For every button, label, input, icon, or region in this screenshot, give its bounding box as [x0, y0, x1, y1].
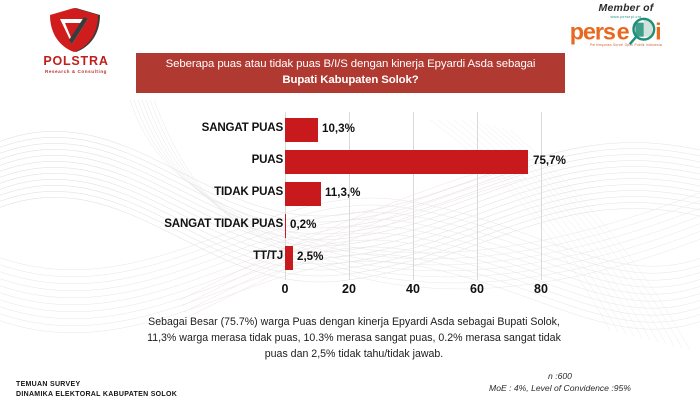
- summary-line-1: Sebagai Besar (75.7%) warga Puas dengan …: [104, 314, 604, 330]
- infographic-slide: POLSTRA Research & Consulting Member of …: [0, 0, 700, 400]
- sample-size: n :600: [430, 370, 690, 382]
- bar-row: PUAS 75,7%: [0, 146, 700, 178]
- bar-sangat-tidak-puas: [285, 214, 286, 238]
- bar-sangat-puas: [285, 118, 318, 142]
- bar-category-label: SANGAT TIDAK PUAS: [164, 217, 283, 230]
- persepi-member-label: Member of: [560, 2, 692, 14]
- bar-value-label: 11,3,%: [325, 186, 360, 199]
- bar-category-label: TT/TJ: [253, 249, 283, 262]
- bar-row: TT/TJ 2,5%: [0, 242, 700, 274]
- bar-value-label: 10,3%: [322, 122, 355, 135]
- svg-text:pers: pers: [570, 19, 616, 45]
- title-line-1: Seberapa puas atau tidak puas B/I/S deng…: [142, 57, 559, 73]
- bar-row: SANGAT PUAS 10,3%: [0, 114, 700, 146]
- summary-paragraph: Sebagai Besar (75.7%) warga Puas dengan …: [104, 314, 604, 362]
- polstra-logo: POLSTRA Research & Consulting: [26, 6, 126, 78]
- svg-text:i: i: [655, 19, 660, 45]
- x-tick-0: 0: [282, 282, 289, 296]
- bar-tidak-puas: [285, 182, 321, 206]
- bar-chart: SANGAT PUAS 10,3% PUAS 75,7% TIDAK PUAS …: [0, 104, 700, 304]
- sample-stats: n :600 MoE : 4%, Level of Convidence :95…: [430, 370, 690, 394]
- persepi-wordmark-graphic: pers e i: [560, 17, 692, 47]
- summary-line-3: puas dan 2,5% tidak tahu/tidak jawab.: [104, 346, 604, 362]
- x-tick-20: 20: [342, 282, 356, 296]
- bar-category-label: PUAS: [252, 153, 283, 166]
- bar-category-label: SANGAT PUAS: [202, 121, 283, 134]
- bar-category-label: TIDAK PUAS: [214, 185, 283, 198]
- bar-value-label: 75,7%: [533, 154, 566, 167]
- temuan-line-2: DINAMIKA ELEKTORAL KABUPATEN SOLOK: [16, 390, 177, 400]
- x-tick-40: 40: [406, 282, 420, 296]
- bar-value-label: 2,5%: [297, 250, 323, 263]
- polstra-tagline: Research & Consulting: [26, 69, 126, 74]
- chart-title-banner: Seberapa puas atau tidak puas B/I/S deng…: [136, 53, 565, 93]
- summary-line-2: 11,3% warga merasa tidak puas, 10.3% mer…: [104, 330, 604, 346]
- bar-row: TIDAK PUAS 11,3,%: [0, 178, 700, 210]
- bar-puas: [285, 150, 528, 174]
- svg-text:e: e: [617, 19, 630, 45]
- x-tick-80: 80: [534, 282, 548, 296]
- x-tick-60: 60: [470, 282, 484, 296]
- persepi-logo: Member of www.persepi.org pers e i Perhi…: [560, 2, 692, 47]
- bar-value-label: 0,2%: [290, 218, 316, 231]
- bar-row: SANGAT TIDAK PUAS 0,2%: [0, 210, 700, 242]
- polstra-name: POLSTRA: [26, 55, 126, 68]
- magnifier-icon: [630, 19, 654, 44]
- title-line-2: Bupati Kabupaten Solok?: [142, 73, 559, 89]
- survey-finding-footer: TEMUAN SURVEY DINAMIKA ELEKTORAL KABUPAT…: [16, 380, 177, 399]
- shield-logo-icon: [48, 6, 104, 54]
- margin-of-error: MoE : 4%, Level of Convidence :95%: [430, 382, 690, 394]
- temuan-line-1: TEMUAN SURVEY: [16, 380, 177, 390]
- bar-tt-tj: [285, 246, 293, 270]
